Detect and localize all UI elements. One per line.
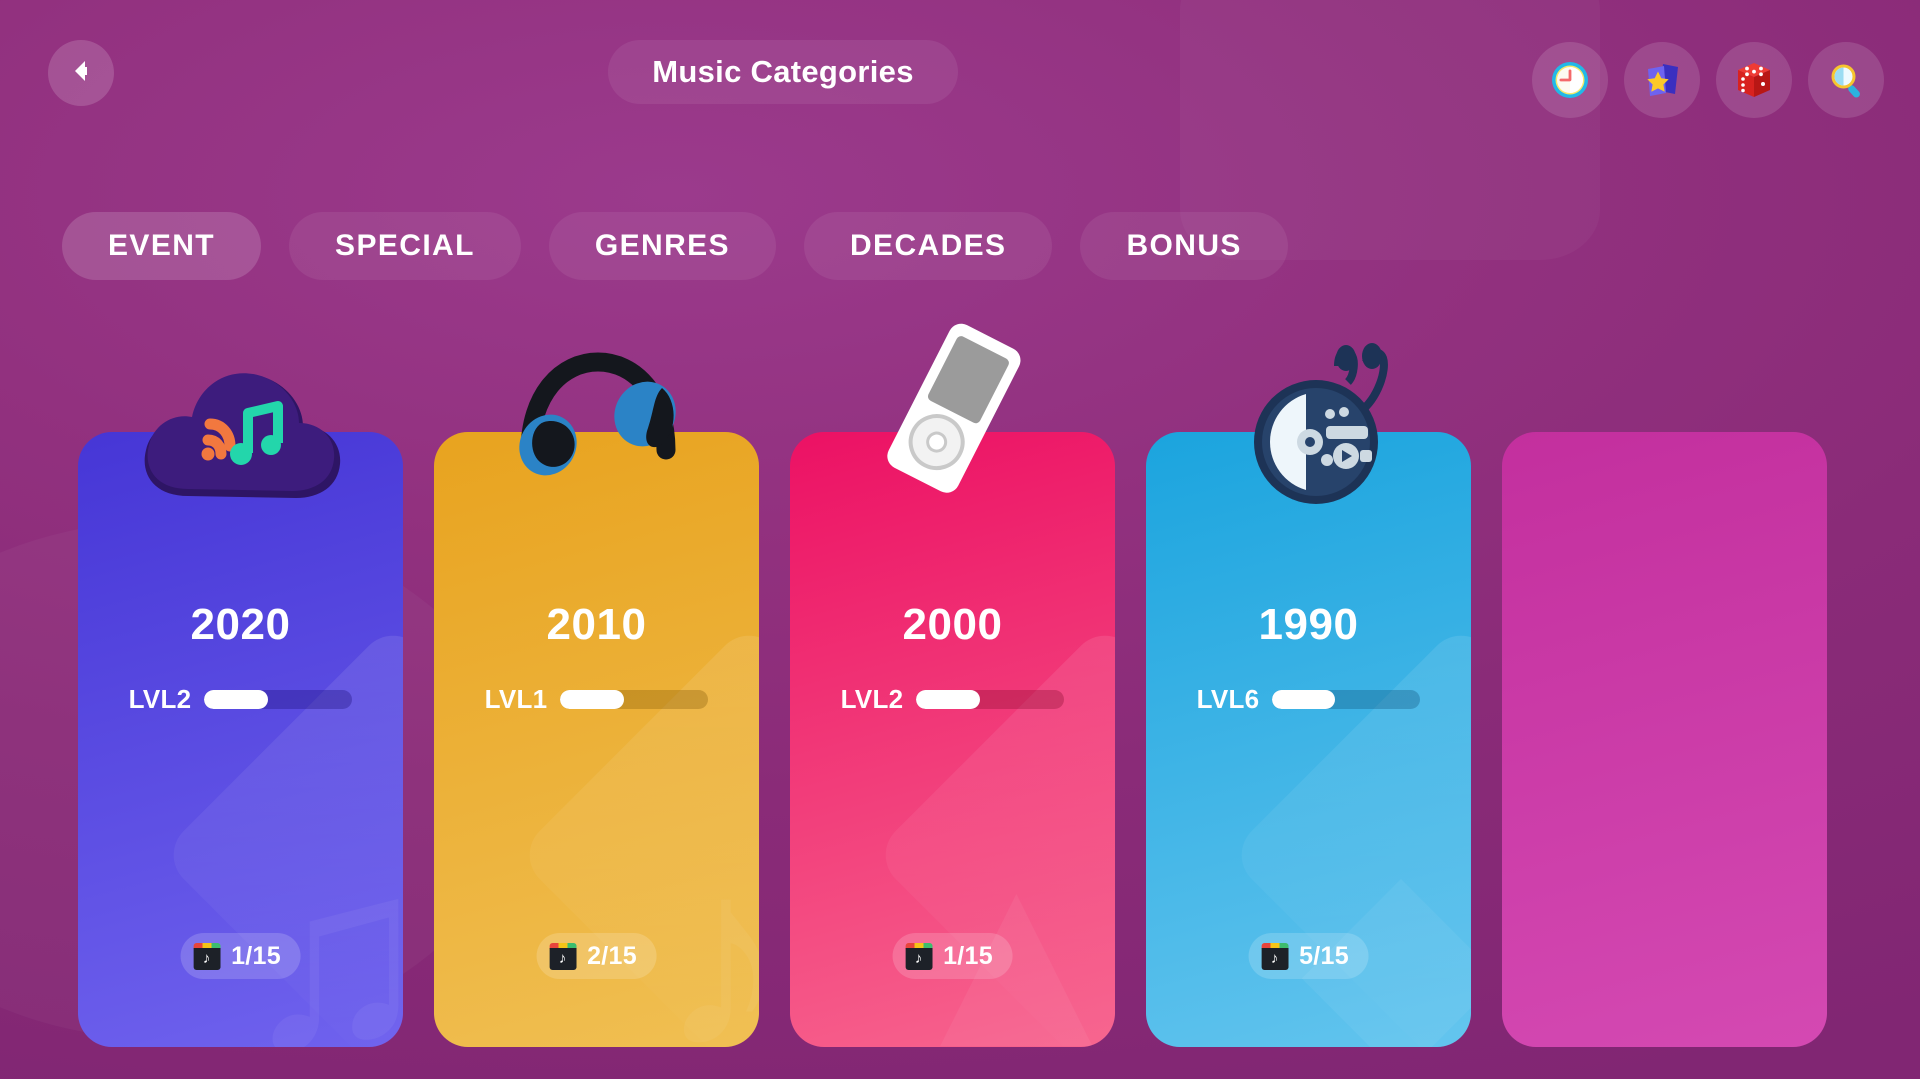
back-arrow-icon xyxy=(66,56,96,91)
search-button[interactable] xyxy=(1808,42,1884,118)
card-surface xyxy=(1502,432,1827,1047)
playlist-icon: ♪ xyxy=(193,943,220,970)
tab-decades[interactable]: DECADES xyxy=(804,212,1053,280)
category-card-2020[interactable]: ♫ 2020 LVL2 xyxy=(78,432,403,1047)
tab-label: EVENT xyxy=(108,229,215,263)
level-label: LVL6 xyxy=(1197,684,1260,715)
level-label: LVL2 xyxy=(841,684,904,715)
music-categories-screen: Music Categories xyxy=(0,0,1920,1079)
top-icon-bar xyxy=(1532,42,1884,118)
category-card-2000[interactable]: ▲ 2000 LVL2 xyxy=(790,432,1115,1047)
level-progress-row: LVL2 xyxy=(790,684,1115,715)
card-watermark: ♪ xyxy=(659,827,759,1047)
playlist-icon: ♪ xyxy=(549,943,576,970)
tab-event[interactable]: EVENT xyxy=(62,212,261,280)
level-label: LVL1 xyxy=(485,684,548,715)
song-count-badge: ♪ 2/15 xyxy=(536,933,657,979)
clock-button[interactable] xyxy=(1532,42,1608,118)
progress-track xyxy=(1272,690,1420,709)
progress-fill xyxy=(560,690,624,709)
progress-track xyxy=(560,690,708,709)
dice-button[interactable] xyxy=(1716,42,1792,118)
category-card-list: ♫ 2020 LVL2 xyxy=(0,360,1920,1000)
tab-label: SPECIAL xyxy=(335,229,475,263)
page-title: Music Categories xyxy=(652,54,914,90)
level-label: LVL2 xyxy=(129,684,192,715)
card-title: 1990 xyxy=(1146,600,1471,650)
tab-label: BONUS xyxy=(1126,229,1241,263)
star-card-button[interactable] xyxy=(1624,42,1700,118)
star-card-icon xyxy=(1639,57,1685,103)
clock-icon xyxy=(1547,57,1593,103)
progress-track xyxy=(204,690,352,709)
song-count: 5/15 xyxy=(1299,942,1349,971)
top-bar: Music Categories xyxy=(0,0,1920,150)
category-card-next[interactable] xyxy=(1502,432,1827,1047)
progress-fill xyxy=(916,690,980,709)
category-tab-bar: EVENT SPECIAL GENRES DECADES BONUS xyxy=(62,212,1288,280)
progress-fill xyxy=(204,690,268,709)
song-count: 2/15 xyxy=(587,942,637,971)
song-count-badge: ♪ 5/15 xyxy=(1248,933,1369,979)
card-title: 2020 xyxy=(78,600,403,650)
magnifier-icon xyxy=(1823,57,1869,103)
song-count-badge: ♪ 1/15 xyxy=(892,933,1013,979)
progress-fill xyxy=(1272,690,1334,709)
song-count: 1/15 xyxy=(943,942,993,971)
level-progress-row: LVL6 xyxy=(1146,684,1471,715)
card-title: 2010 xyxy=(434,600,759,650)
tab-label: DECADES xyxy=(850,229,1007,263)
song-count-badge: ♪ 1/15 xyxy=(180,933,301,979)
tab-label: GENRES xyxy=(595,229,730,263)
dice-icon xyxy=(1731,57,1777,103)
tab-bonus[interactable]: BONUS xyxy=(1080,212,1287,280)
back-button[interactable] xyxy=(48,40,114,106)
level-progress-row: LVL2 xyxy=(78,684,403,715)
progress-track xyxy=(916,690,1064,709)
level-progress-row: LVL1 xyxy=(434,684,759,715)
song-count: 1/15 xyxy=(231,942,281,971)
card-title: 2000 xyxy=(790,600,1115,650)
category-card-1990[interactable]: ◆ xyxy=(1146,432,1471,1047)
playlist-icon: ♪ xyxy=(1261,943,1288,970)
tab-special[interactable]: SPECIAL xyxy=(289,212,521,280)
page-title-pill: Music Categories xyxy=(608,40,958,104)
category-card-2010[interactable]: ♪ 2010 LVL1 ♪ xyxy=(434,432,759,1047)
playlist-icon: ♪ xyxy=(905,943,932,970)
tab-genres[interactable]: GENRES xyxy=(549,212,776,280)
